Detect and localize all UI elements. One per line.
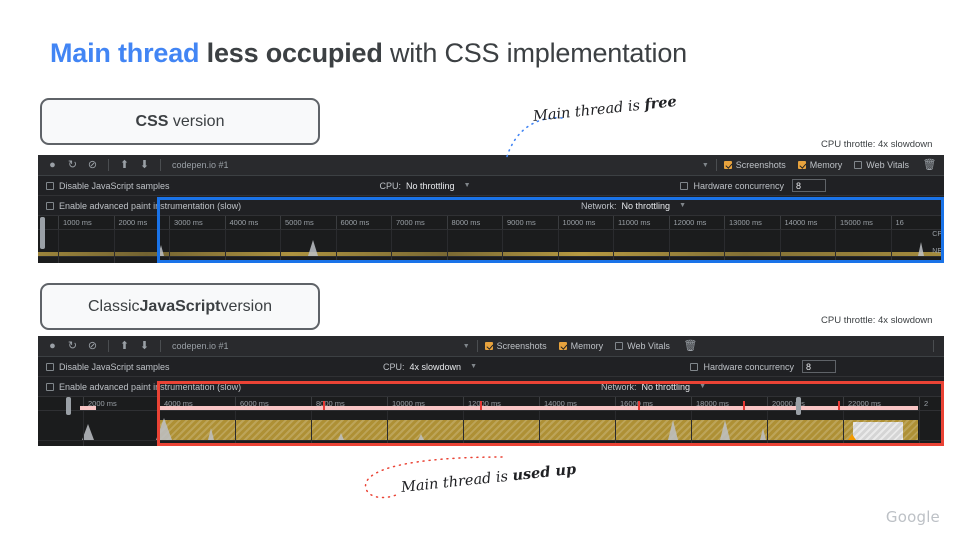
toolbar-divider-2 — [160, 340, 161, 352]
paint-instrumentation-label: Enable advanced paint instrumentation (s… — [59, 201, 241, 211]
timeline-gridline — [780, 230, 781, 256]
cpu-throttling-value: No throttling — [406, 181, 455, 191]
chevron-down-icon[interactable]: ▼ — [702, 162, 709, 169]
screenshots-checkbox[interactable] — [724, 161, 732, 169]
timeline-footer-gridline — [311, 441, 312, 446]
timeline-footer-gridline — [835, 257, 836, 263]
css-version-label-rest: version — [173, 113, 225, 131]
timeline-left-handle[interactable] — [40, 217, 45, 249]
activity-spike — [918, 242, 924, 256]
timeline-footer-gridline — [558, 257, 559, 263]
screenshots-label: Screenshots — [736, 160, 786, 170]
chevron-down-icon[interactable]: ▼ — [470, 363, 477, 370]
timeline-gridline — [919, 411, 920, 440]
timeline-footer-gridline — [780, 257, 781, 263]
network-throttling-control[interactable]: Network: No throttling ▼ — [601, 382, 706, 392]
screenshots-toggle[interactable]: Screenshots — [724, 160, 786, 170]
js-timeline-footer — [38, 440, 944, 446]
timeline-gridline — [502, 230, 503, 256]
chevron-down-icon[interactable]: ▼ — [679, 202, 686, 209]
activity-spike — [308, 240, 318, 256]
trash-icon[interactable]: 🗑 — [921, 157, 938, 174]
css-timeline-footer — [38, 256, 944, 263]
js-version-label-strong: JavaScript — [140, 298, 221, 316]
toolbar-divider-1 — [108, 159, 109, 171]
timeline-tick-label: 7000 ms — [391, 216, 425, 229]
timeline-tick-label: 10000 ms — [558, 216, 596, 229]
web-vitals-checkbox[interactable] — [615, 342, 623, 350]
cpu-throttling-label: CPU: — [383, 362, 405, 372]
disable-js-samples-toggle[interactable]: Disable JavaScript samples — [46, 362, 170, 372]
timeline-footer-gridline — [280, 257, 281, 263]
css-version-label-strong: CSS — [136, 113, 169, 131]
js-annotation-emphasis: used up — [512, 461, 577, 485]
timeline-footer-gridline — [843, 441, 844, 446]
timeline-tick-label: 5000 ms — [280, 216, 314, 229]
css-devtools-toolbar: ● ↻ ⊘ ⬆ ⬇ codepen.io #1 ▼ Screenshots Me… — [38, 155, 944, 176]
js-devtools-toolbar: ● ↻ ⊘ ⬆ ⬇ codepen.io #1 ▼ Screenshots Me… — [38, 336, 944, 357]
download-icon[interactable]: ⬇ — [136, 338, 153, 355]
paint-instrumentation-checkbox[interactable] — [46, 202, 54, 210]
activity-spike — [760, 428, 766, 440]
target-selector[interactable]: codepen.io #1 — [168, 341, 229, 351]
long-task-marker — [743, 401, 745, 410]
timeline-gridline — [767, 411, 768, 440]
record-icon[interactable]: ● — [44, 157, 61, 174]
timeline-footer-gridline — [235, 441, 236, 446]
js-paint-row: Enable advanced paint instrumentation (s… — [38, 377, 944, 397]
timeline-footer-gridline — [447, 257, 448, 263]
timeline-gridline — [58, 230, 59, 256]
js-annotation-text: Main thread is used up — [400, 461, 577, 496]
timeline-tick-label: 2000 ms — [114, 216, 148, 229]
timeline-gridline — [613, 230, 614, 256]
timeline-right-handle[interactable] — [796, 397, 801, 415]
timeline-tick-label: 13000 ms — [724, 216, 762, 229]
page-title: Main thread less occupied with CSS imple… — [50, 38, 687, 69]
timeline-tick-label: 8000 ms — [447, 216, 481, 229]
network-throttling-value: No throttling — [642, 382, 691, 392]
timeline-footer-gridline — [225, 257, 226, 263]
network-throttling-label: Network: — [581, 201, 617, 211]
timeline-gridline — [391, 230, 392, 256]
screenshots-toggle[interactable]: Screenshots — [485, 341, 547, 351]
js-version-label-normal: Classic — [88, 298, 140, 316]
css-timeline-ruler: 1000 ms2000 ms3000 ms4000 ms5000 ms6000 … — [38, 216, 944, 230]
timeline-footer-gridline — [615, 441, 616, 446]
timeline-gridline — [843, 411, 844, 440]
timeline-footer-gridline — [58, 257, 59, 263]
cpu-edge-label: CP — [932, 231, 942, 238]
upload-icon[interactable]: ⬆ — [116, 157, 133, 174]
trash-icon[interactable]: 🗑 — [682, 338, 699, 355]
toolbar-divider-3 — [716, 159, 717, 171]
download-icon[interactable]: ⬇ — [136, 157, 153, 174]
memory-label: Memory — [571, 341, 604, 351]
idle-gray-block — [853, 422, 903, 440]
long-task-marker — [638, 401, 640, 410]
record-icon[interactable]: ● — [44, 338, 61, 355]
timeline-tick-label: 2 — [919, 397, 928, 410]
hardware-concurrency-toggle[interactable]: Hardware concurrency — [680, 181, 784, 191]
timeline-tick-label: 15000 ms — [835, 216, 873, 229]
clear-icon[interactable]: ⊘ — [84, 157, 101, 174]
activity-spike — [668, 420, 678, 440]
timeline-footer-gridline — [387, 441, 388, 446]
long-task-marker — [323, 401, 325, 410]
paint-instrumentation-toggle[interactable]: Enable advanced paint instrumentation (s… — [46, 201, 241, 211]
network-throttling-label: Network: — [601, 382, 637, 392]
target-selector-label: codepen.io #1 — [172, 160, 229, 170]
memory-toggle[interactable]: Memory — [798, 160, 843, 170]
target-selector-label: codepen.io #1 — [172, 341, 229, 351]
cpu-throttling-label: CPU: — [380, 181, 402, 191]
disable-js-samples-checkbox[interactable] — [46, 363, 54, 371]
timeline-gridline — [615, 411, 616, 440]
timeline-footer-gridline — [724, 257, 725, 263]
network-edge-label: NE — [932, 248, 942, 255]
target-selector[interactable]: codepen.io #1 — [168, 160, 229, 170]
activity-spike — [158, 245, 164, 256]
cpu-throttling-control[interactable]: CPU: 4x slowdown ▼ — [383, 362, 477, 372]
network-throttling-control[interactable]: Network: No throttling ▼ — [581, 201, 686, 211]
timeline-footer-gridline — [502, 257, 503, 263]
title-part-normal: with CSS implementation — [390, 38, 687, 68]
js-devtools-performance-panel: ● ↻ ⊘ ⬆ ⬇ codepen.io #1 ▼ Screenshots Me… — [38, 336, 944, 446]
web-vitals-toggle[interactable]: Web Vitals — [854, 160, 909, 170]
css-devtools-performance-panel: ● ↻ ⊘ ⬆ ⬇ codepen.io #1 ▼ Screenshots Me… — [38, 155, 944, 263]
css-version-label: CSS version — [40, 98, 320, 145]
timeline-footer-gridline — [336, 257, 337, 263]
css-annotation-prefix: Main thread is — [532, 97, 645, 125]
chevron-down-icon[interactable]: ▼ — [463, 343, 470, 350]
hardware-concurrency-input[interactable]: 8 — [802, 360, 836, 373]
css-annotation-emphasis: free — [644, 93, 678, 113]
paint-instrumentation-label: Enable advanced paint instrumentation (s… — [59, 382, 241, 392]
memory-checkbox[interactable] — [559, 342, 567, 350]
timeline-footer-gridline — [919, 441, 920, 446]
network-throttling-select[interactable]: No throttling ▼ — [642, 382, 706, 392]
timeline-left-handle[interactable] — [66, 397, 71, 415]
activity-spike — [720, 420, 730, 440]
title-part-blue: Main thread — [50, 38, 199, 68]
activity-spike — [338, 433, 344, 440]
timeline-gridline — [235, 411, 236, 440]
toolbar-divider-3 — [477, 340, 478, 352]
network-throttling-select[interactable]: No throttling ▼ — [622, 201, 686, 211]
timeline-gridline — [311, 411, 312, 440]
hardware-concurrency-label: Hardware concurrency — [693, 181, 784, 191]
timeline-gridline — [225, 230, 226, 256]
hardware-concurrency-input[interactable]: 8 — [792, 179, 826, 192]
web-vitals-label: Web Vitals — [866, 160, 909, 170]
toolbar-divider-2 — [160, 159, 161, 171]
long-task-marker — [158, 401, 160, 410]
timeline-tick-label: 16 — [891, 216, 904, 229]
toolbar-divider-4 — [933, 340, 934, 352]
timeline-gridline — [159, 411, 160, 440]
memory-label: Memory — [810, 160, 843, 170]
js-cpu-activity-graph — [38, 411, 944, 440]
timeline-footer-gridline — [169, 257, 170, 263]
timeline-footer-gridline — [891, 257, 892, 263]
timeline-tick-label: 4000 ms — [225, 216, 259, 229]
web-vitals-checkbox[interactable] — [854, 161, 862, 169]
reload-icon[interactable]: ↻ — [64, 338, 81, 355]
js-version-label-rest: version — [220, 298, 272, 316]
timeline-gridline — [447, 230, 448, 256]
memory-toggle[interactable]: Memory — [559, 341, 604, 351]
timeline-gridline — [558, 230, 559, 256]
timeline-gridline — [835, 230, 836, 256]
timeline-gridline — [539, 411, 540, 440]
long-task-marker — [480, 401, 482, 410]
disable-js-samples-toggle[interactable]: Disable JavaScript samples — [46, 181, 170, 191]
toolbar-divider-1 — [108, 340, 109, 352]
timeline-gridline — [691, 411, 692, 440]
cpu-throttling-select[interactable]: No throttling ▼ — [406, 181, 470, 191]
paint-instrumentation-checkbox[interactable] — [46, 383, 54, 391]
timeline-footer-gridline — [159, 441, 160, 446]
screenshots-label: Screenshots — [497, 341, 547, 351]
js-annotation-prefix: Main thread is — [400, 468, 513, 496]
web-vitals-label: Web Vitals — [627, 341, 670, 351]
cpu-throttling-value: 4x slowdown — [410, 362, 462, 372]
timeline-gridline — [336, 230, 337, 256]
disable-js-samples-label: Disable JavaScript samples — [59, 362, 170, 372]
timeline-gridline — [387, 411, 388, 440]
timeline-tick-label: 11000 ms — [613, 216, 650, 229]
js-options-row: Disable JavaScript samples CPU: 4x slowd… — [38, 357, 944, 377]
timeline-tick-label: 12000 ms — [669, 216, 707, 229]
timeline-footer-gridline — [669, 257, 670, 263]
js-timeline-ruler: 2000 ms4000 ms6000 ms8000 ms10000 ms1200… — [38, 397, 944, 411]
timeline-footer-gridline — [391, 257, 392, 263]
timeline-gridline — [669, 230, 670, 256]
web-vitals-toggle[interactable]: Web Vitals — [615, 341, 670, 351]
timeline-tick-label: 14000 ms — [780, 216, 818, 229]
main-thread-busy-block — [158, 420, 918, 440]
timeline-tick-label: 6000 ms — [336, 216, 370, 229]
hardware-concurrency-label: Hardware concurrency — [703, 362, 794, 372]
long-task-bar — [80, 406, 96, 410]
cpu-throttling-select[interactable]: 4x slowdown ▼ — [410, 362, 477, 372]
css-cpu-throttle-caption: CPU throttle: 4x slowdown — [821, 139, 932, 150]
timeline-tick-label: 1000 ms — [58, 216, 92, 229]
timeline-footer-gridline — [539, 441, 540, 446]
timeline-tick-label: 3000 ms — [169, 216, 203, 229]
memory-checkbox[interactable] — [798, 161, 806, 169]
timeline-gridline — [891, 230, 892, 256]
js-cpu-throttle-caption: CPU throttle: 4x slowdown — [821, 315, 932, 326]
timeline-tick-label: 9000 ms — [502, 216, 536, 229]
css-timeline-overview[interactable]: 1000 ms2000 ms3000 ms4000 ms5000 ms6000 … — [38, 216, 944, 262]
disable-js-samples-label: Disable JavaScript samples — [59, 181, 170, 191]
timeline-footer-gridline — [463, 441, 464, 446]
hardware-concurrency-toggle[interactable]: Hardware concurrency — [690, 362, 794, 372]
clear-icon[interactable]: ⊘ — [84, 338, 101, 355]
js-timeline-overview[interactable]: 2000 ms4000 ms6000 ms8000 ms10000 ms1200… — [38, 397, 944, 445]
timeline-footer-gridline — [767, 441, 768, 446]
timeline-gridline — [280, 230, 281, 256]
timeline-gridline — [463, 411, 464, 440]
chevron-down-icon[interactable]: ▼ — [464, 182, 471, 189]
timeline-footer-gridline — [691, 441, 692, 446]
hardware-concurrency-checkbox[interactable] — [680, 182, 688, 190]
timeline-footer-gridline — [114, 257, 115, 263]
timeline-gridline — [169, 230, 170, 256]
chevron-down-icon[interactable]: ▼ — [699, 383, 706, 390]
js-version-label: Classic JavaScript version — [40, 283, 320, 330]
title-part-bold: less occupied — [207, 38, 383, 68]
timeline-gridline — [724, 230, 725, 256]
disable-js-samples-checkbox[interactable] — [46, 182, 54, 190]
css-cpu-activity-graph: CP NE — [38, 230, 944, 256]
upload-icon[interactable]: ⬆ — [116, 338, 133, 355]
reload-icon[interactable]: ↻ — [64, 157, 81, 174]
timeline-footer-gridline — [613, 257, 614, 263]
network-throttling-value: No throttling — [622, 201, 671, 211]
cpu-throttling-control[interactable]: CPU: No throttling ▼ — [380, 181, 471, 191]
activity-spike — [208, 428, 214, 440]
hardware-concurrency-checkbox[interactable] — [690, 363, 698, 371]
long-task-marker — [838, 401, 840, 410]
paint-instrumentation-toggle[interactable]: Enable advanced paint instrumentation (s… — [46, 382, 241, 392]
timeline-gridline — [83, 411, 84, 440]
timeline-footer-gridline — [83, 441, 84, 446]
timeline-gridline — [114, 230, 115, 256]
css-options-row: Disable JavaScript samples CPU: No throt… — [38, 176, 944, 196]
css-annotation-text: Main thread is free — [532, 93, 677, 125]
google-logo: Google — [886, 508, 940, 526]
long-task-bar — [158, 406, 918, 410]
screenshots-checkbox[interactable] — [485, 342, 493, 350]
css-paint-row: Enable advanced paint instrumentation (s… — [38, 196, 944, 216]
